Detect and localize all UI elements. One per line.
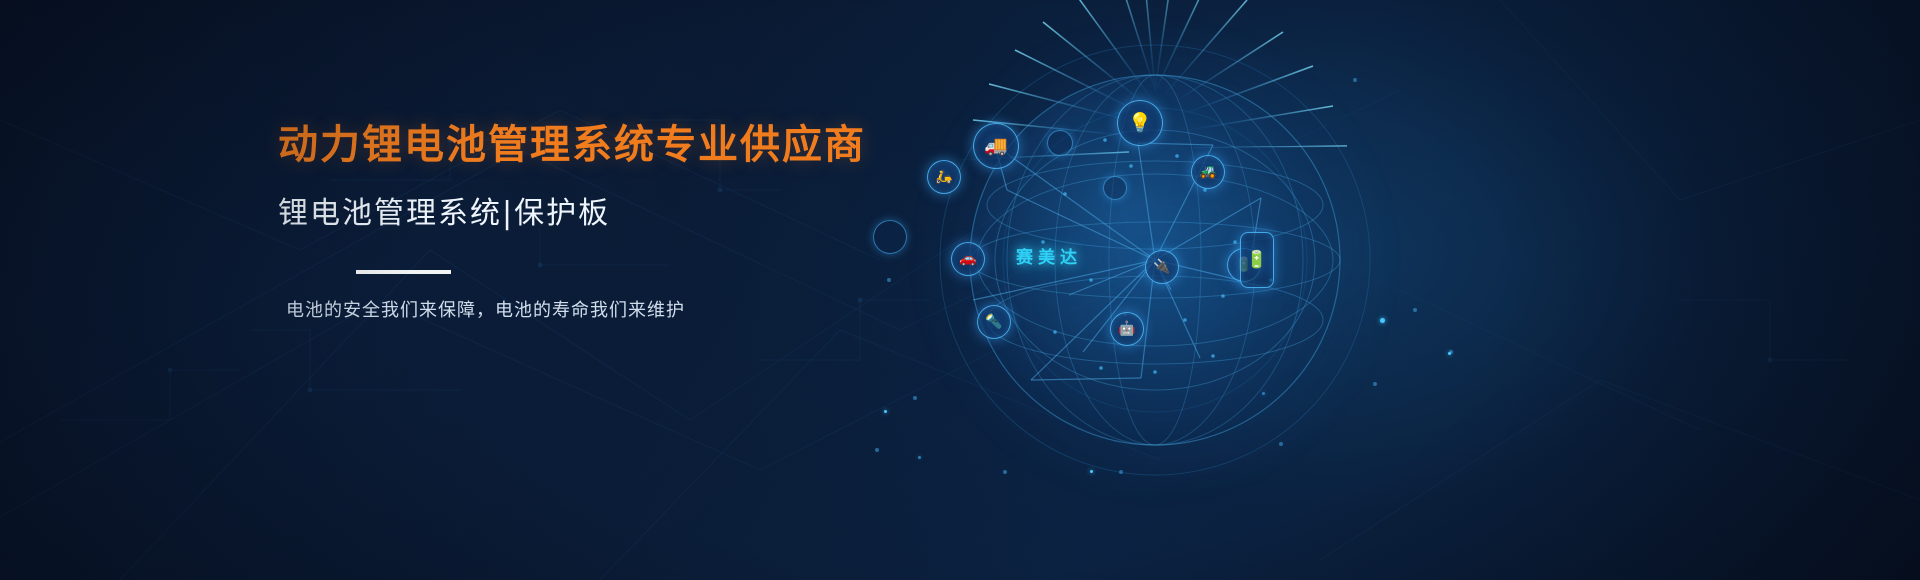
network-node [1103, 176, 1127, 200]
brand-mark: 赛美达 [1016, 243, 1082, 268]
globe-graphic: 🚚 💡 🛵 🚜 🚗 🔌 🔦 🤖 🔋 [855, 0, 1495, 580]
ambient-dot [1262, 392, 1265, 395]
network-node [1047, 130, 1073, 156]
powerbank-icon: 🔌 [1145, 250, 1179, 284]
page-title: 动力锂电池管理系统专业供应商 [278, 120, 918, 170]
ambient-dot [1380, 318, 1385, 323]
hero-subtitle: 锂电池管理系统|保护板 [278, 188, 918, 232]
ambient-dot [1448, 352, 1451, 355]
tool-icon: 🔦 [977, 305, 1011, 339]
ambient-dot [884, 410, 887, 413]
car-icon: 🚗 [951, 242, 985, 276]
scooter-icon: 🛵 [927, 160, 961, 194]
battery-icon: 🔋 [1240, 232, 1274, 288]
forklift-icon: 🚜 [1191, 155, 1225, 189]
hero-tagline: 电池的安全我们来保障，电池的寿命我们来维护 [286, 296, 918, 322]
hero-copy: 动力锂电池管理系统专业供应商 锂电池管理系统|保护板 电池的安全我们来保障，电池… [278, 120, 918, 322]
divider [356, 270, 451, 274]
robot-icon: 🤖 [1110, 312, 1144, 346]
ambient-dot [918, 456, 921, 459]
lightbulb-icon: 💡 [1117, 100, 1163, 146]
hero-banner: 动力锂电池管理系统专业供应商 锂电池管理系统|保护板 电池的安全我们来保障，电池… [0, 0, 1920, 580]
truck-icon: 🚚 [973, 123, 1019, 169]
network-node [873, 220, 907, 254]
ambient-dot [1090, 470, 1093, 473]
